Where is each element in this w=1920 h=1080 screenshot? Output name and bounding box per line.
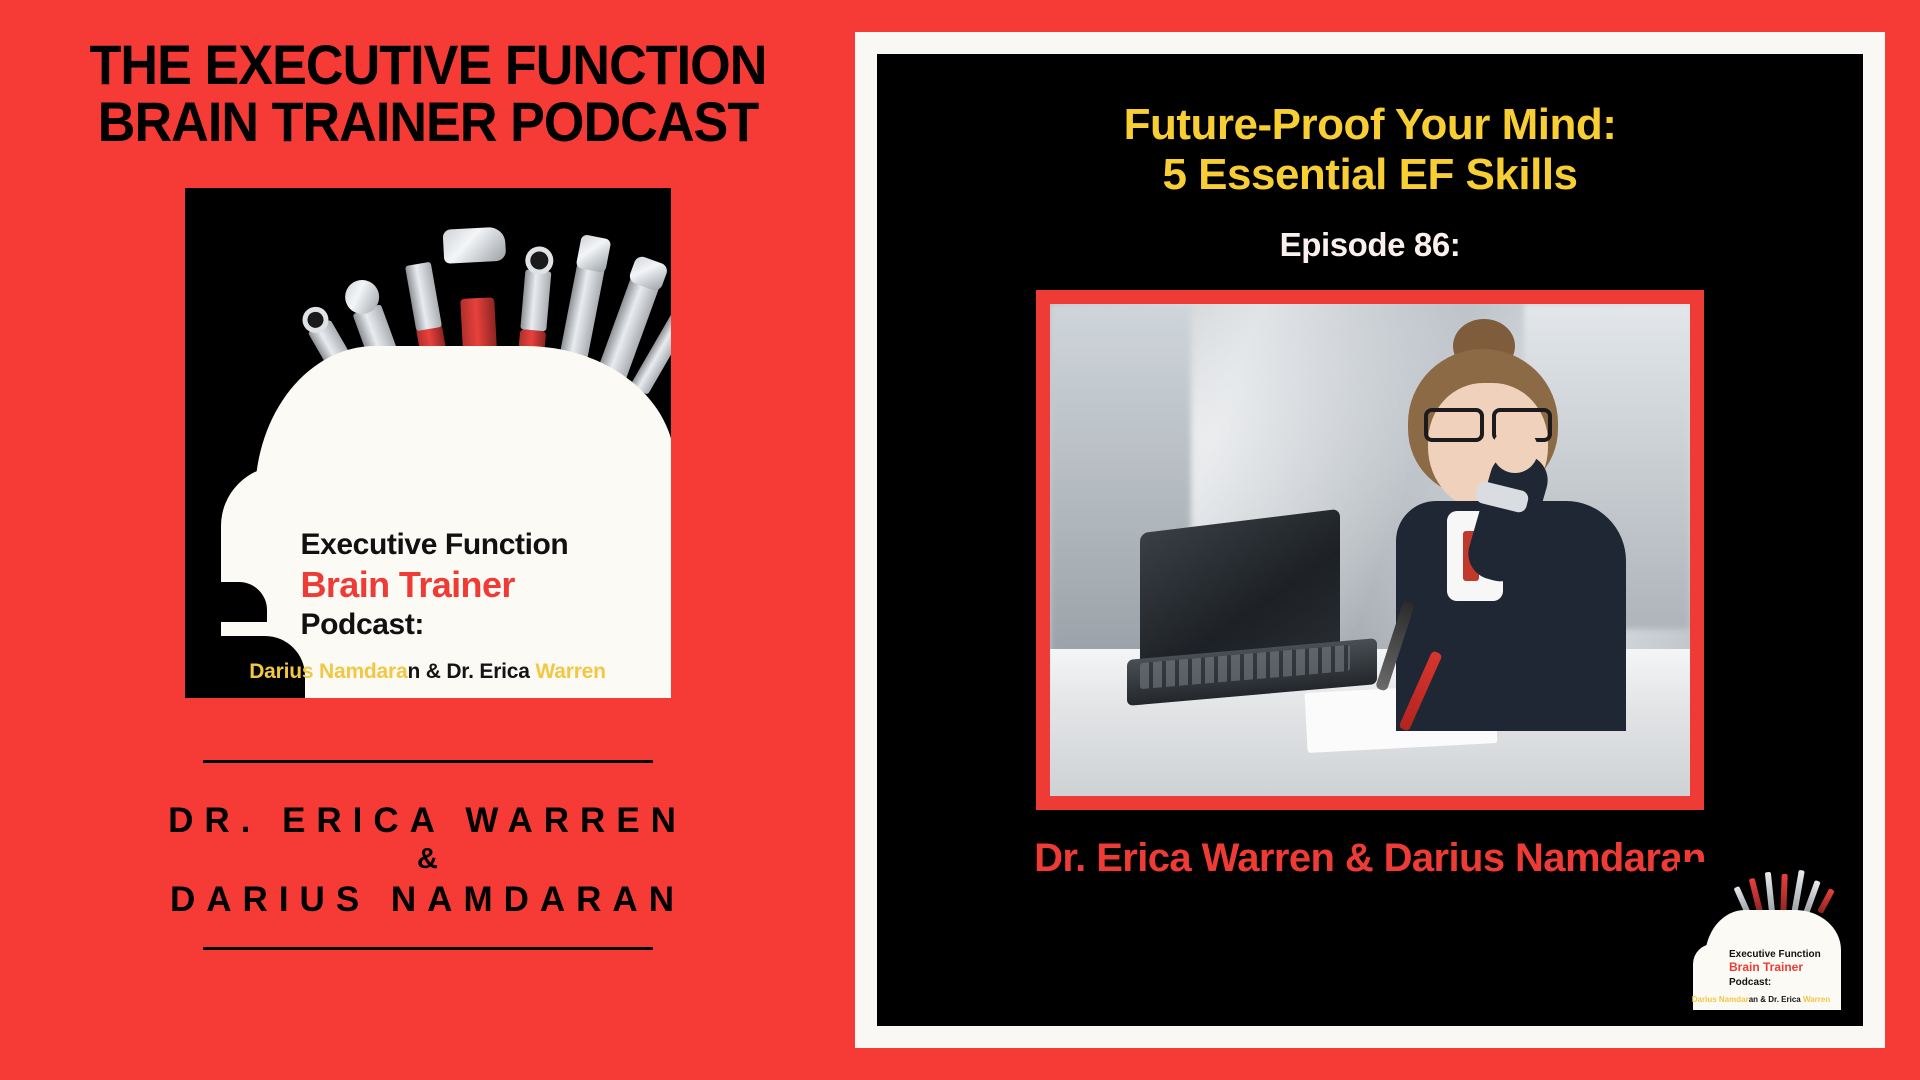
episode-title-line-1: Future-Proof Your Mind: [877, 100, 1863, 150]
cover-art-line-1: Executive Function [301, 528, 671, 562]
divider-bottom [203, 947, 653, 950]
episode-slide: Future-Proof Your Mind: 5 Essential EF S… [877, 54, 1863, 1026]
cover-art-hosts: Darius Namdaran & Dr. Erica Warren [185, 660, 671, 684]
episode-title: Future-Proof Your Mind: 5 Essential EF S… [877, 100, 1863, 200]
divider-top [203, 760, 653, 763]
show-title-line-1: THE EXECUTIVE FUNCTION [65, 36, 790, 93]
head-silhouette [255, 346, 671, 698]
host-name-2: DARIUS NAMDARAN [168, 880, 687, 919]
episode-photo-frame [1036, 290, 1704, 810]
episode-photo [1050, 304, 1690, 796]
show-title: THE EXECUTIVE FUNCTION BRAIN TRAINER POD… [65, 36, 790, 150]
child-hand [1492, 427, 1538, 473]
mini-hosts-part-3: Warren [1803, 995, 1830, 1004]
mini-hosts-part-2: an & Dr. Erica [1749, 995, 1803, 1004]
mini-logo-line-3: Podcast: [1729, 977, 1771, 988]
podcast-cover-art: Executive Function Brain Trainer Podcast… [185, 188, 671, 698]
cover-art-line-3: Podcast: [301, 608, 671, 642]
cover-hosts-part-1: Darius Namdara [249, 660, 407, 683]
cover-hosts-part-2: n & Dr. Erica [407, 660, 535, 683]
mini-ratchet-icon [1765, 872, 1775, 914]
mini-spanner-icon [1791, 870, 1805, 914]
episode-title-line-2: 5 Essential EF Skills [877, 150, 1863, 200]
mini-podcast-logo: Executive Function Brain Trainer Podcast… [1677, 862, 1845, 1010]
host-ampersand: & [168, 840, 687, 879]
right-panel: Future-Proof Your Mind: 5 Essential EF S… [855, 32, 1885, 1048]
mini-hammer-icon [1749, 878, 1764, 914]
episode-number: Episode 86: [877, 226, 1863, 264]
host-name-1: DR. ERICA WARREN [168, 801, 687, 840]
mini-chisel-icon [1817, 888, 1835, 914]
mini-tools-illustration [1735, 866, 1839, 914]
show-title-line-2: BRAIN TRAINER PODCAST [65, 93, 790, 150]
hosts-block: DR. ERICA WARREN & DARIUS NAMDARAN [168, 801, 687, 919]
cover-art-text: Executive Function Brain Trainer Podcast… [185, 528, 671, 642]
mini-logo-hosts: Darius Namdaran & Dr. Erica Warren [1677, 995, 1845, 1004]
mini-logo-line-1: Executive Function [1729, 949, 1821, 960]
left-panel: THE EXECUTIVE FUNCTION BRAIN TRAINER POD… [0, 0, 855, 1080]
mini-logo-line-2: Brain Trainer [1729, 960, 1803, 974]
cover-art-line-2: Brain Trainer [301, 564, 671, 606]
cover-hosts-part-3: Warren [535, 660, 605, 683]
eyeglasses-icon [1424, 408, 1552, 434]
mini-hosts-part-1: Darius Namdar [1692, 995, 1749, 1004]
mini-pliers-icon [1780, 874, 1787, 914]
